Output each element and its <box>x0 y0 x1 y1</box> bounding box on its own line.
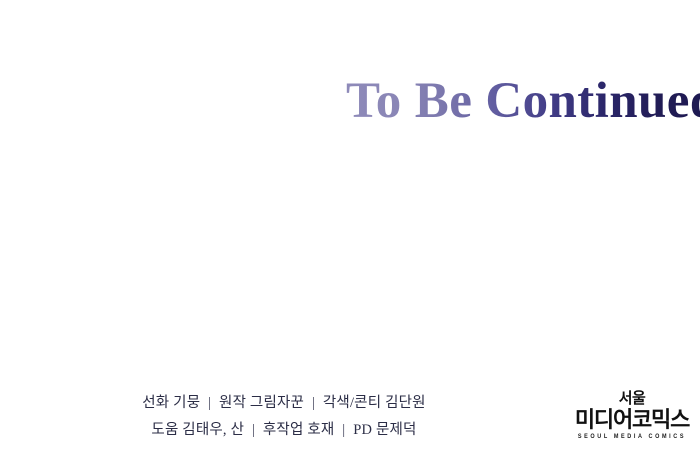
credit-segment-postwork: 후작업 호재 <box>263 422 335 438</box>
comic-end-page: To Be Continued 선화 기뭉 | 원작 그림자꾼 | 각색/콘티 … <box>0 0 700 467</box>
credit-segment-assistants: 도움 김태우, 산 <box>151 422 244 438</box>
credits-block: 선화 기뭉 | 원작 그림자꾼 | 각색/콘티 김단원 도움 김태우, 산 | … <box>0 390 568 444</box>
to-be-continued-text: To Be Continued <box>346 66 700 136</box>
publisher-logo-line-latin: SEOUL MEDIA COMICS <box>569 432 695 441</box>
credits-line-2: 도움 김태우, 산 | 후작업 호재 | PD 문제덕 <box>0 417 568 444</box>
credits-line-1: 선화 기뭉 | 원작 그림자꾼 | 각색/콘티 김단원 <box>0 390 568 417</box>
to-be-continued-title: To Be Continued <box>346 66 700 136</box>
publisher-logo-line-seoul: 서울 <box>569 391 695 407</box>
credit-separator: | <box>248 422 259 438</box>
credit-segment-artist: 선화 기뭉 <box>142 395 200 411</box>
credit-segment-adaptation: 각색/콘티 김단원 <box>323 395 426 411</box>
publisher-logo-line-media-comics: 미디어코믹스 <box>569 408 695 432</box>
credit-separator: | <box>338 422 349 438</box>
publisher-logo: 서울 미디어코믹스 SEOUL MEDIA COMICS <box>569 391 695 440</box>
credit-separator: | <box>308 395 319 411</box>
credit-segment-original: 원작 그림자꾼 <box>219 395 304 411</box>
credit-segment-pd: PD 문제덕 <box>353 422 416 438</box>
credit-separator: | <box>204 395 215 411</box>
